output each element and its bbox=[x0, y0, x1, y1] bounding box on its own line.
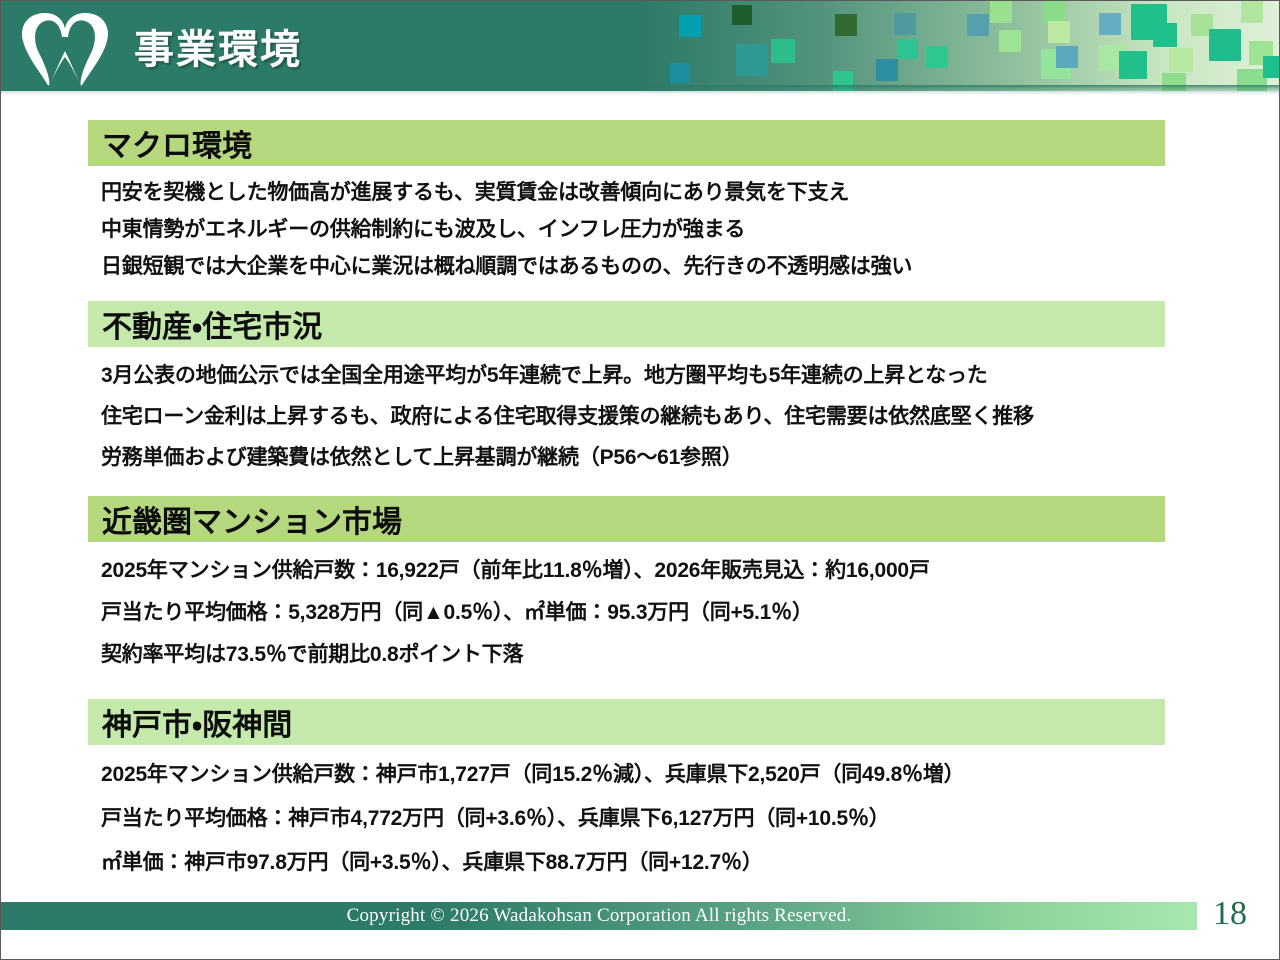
header-tile bbox=[1119, 51, 1147, 79]
copyright-text: Copyright © 2026 Wadakohsan Corporation … bbox=[1, 902, 1197, 930]
header-tile bbox=[736, 44, 768, 76]
header-tile bbox=[1056, 46, 1078, 68]
body-line: 日銀短観では大企業を中心に業況は概ね順調ではあるものの、先行きの不透明感は強い bbox=[88, 248, 1165, 285]
body-line: 3月公表の地価公示では全国全用途平均が5年連続で上昇。地方圏平均も5年連続の上昇… bbox=[88, 355, 1165, 396]
section-title: 近畿圏マンション市場 bbox=[102, 497, 402, 541]
body-line: 戸当たり平均価格：5,328万円（同▲0.5％）、㎡単価：95.3万円（同+5.… bbox=[88, 592, 1165, 634]
section-body: 3月公表の地価公示では全国全用途平均が5年連続で上昇。地方圏平均も5年連続の上昇… bbox=[88, 347, 1165, 478]
body-line: 住宅ローン金利は上昇するも、政府による住宅取得支援策の継続もあり、住宅需要は依然… bbox=[88, 396, 1165, 437]
header-tile bbox=[1043, 1, 1065, 23]
section-title: 神戸市・阪神間 bbox=[102, 700, 292, 744]
header-tile bbox=[926, 46, 948, 68]
header-tile bbox=[1099, 13, 1121, 35]
section-header-bar: 不動産・住宅市況 bbox=[88, 301, 1165, 347]
section-header-bar: マクロ環境 bbox=[88, 120, 1165, 166]
header-tile bbox=[1169, 48, 1193, 72]
header-tile bbox=[999, 30, 1021, 52]
header-tile bbox=[894, 13, 916, 35]
header-tile bbox=[679, 15, 701, 37]
slide: 事業環境 マクロ環境 円安を契機とした物価高が進展するも、実質賃金は改善傾向にあ… bbox=[0, 0, 1280, 960]
section-kobe-hanshin: 神戸市・阪神間 2025年マンション供給戸数：神戸市1,727戸（同15.2％減… bbox=[88, 699, 1165, 885]
section-title: マクロ環境 bbox=[102, 121, 252, 165]
header-tile bbox=[876, 59, 898, 81]
header-tile bbox=[771, 39, 795, 63]
section-macro: マクロ環境 円安を契機とした物価高が進展するも、実質賃金は改善傾向にあり景気を下… bbox=[88, 120, 1165, 285]
page-title: 事業環境 bbox=[134, 17, 302, 75]
header-tile bbox=[1241, 1, 1263, 23]
header-tile bbox=[1048, 21, 1070, 43]
section-header-bar: 神戸市・阪神間 bbox=[88, 699, 1165, 745]
page-number: 18 bbox=[1213, 895, 1247, 933]
slide-header: 事業環境 bbox=[1, 1, 1280, 91]
header-tile bbox=[1209, 29, 1241, 61]
section-body: 2025年マンション供給戸数：神戸市1,727戸（同15.2％減）、兵庫県下2,… bbox=[88, 745, 1165, 885]
section-body: 円安を契機とした物価高が進展するも、実質賃金は改善傾向にあり景気を下支え 中東情… bbox=[88, 166, 1165, 285]
body-line: 契約率平均は73.5％で前期比0.8ポイント下落 bbox=[88, 634, 1165, 676]
body-line: 戸当たり平均価格：神戸市4,772万円（同+3.6％）、兵庫県下6,127万円（… bbox=[88, 797, 1165, 841]
header-tile bbox=[898, 39, 918, 59]
body-line: ㎡単価：神戸市97.8万円（同+3.5％）、兵庫県下88.7万円（同+12.7％… bbox=[88, 841, 1165, 885]
body-line: 労務単価および建築費は依然として上昇基調が継続（P56〜61参照） bbox=[88, 437, 1165, 478]
header-tile bbox=[835, 14, 857, 36]
section-kinki-condo-market: 近畿圏マンション市場 2025年マンション供給戸数：16,922戸（前年比11.… bbox=[88, 496, 1165, 676]
header-tile bbox=[1263, 56, 1280, 78]
header-tile bbox=[967, 14, 989, 36]
section-realestate-housing: 不動産・住宅市況 3月公表の地価公示では全国全用途平均が5年連続で上昇。地方圏平… bbox=[88, 301, 1165, 478]
body-line: 中東情勢がエネルギーの供給制約にも波及し、インフレ圧力が強まる bbox=[88, 211, 1165, 248]
section-header-bar: 近畿圏マンション市場 bbox=[88, 496, 1165, 542]
header-tile bbox=[732, 5, 752, 25]
body-line: 2025年マンション供給戸数：16,922戸（前年比11.8％増）、2026年販… bbox=[88, 550, 1165, 592]
section-title: 不動産・住宅市況 bbox=[102, 302, 322, 346]
body-line: 2025年マンション供給戸数：神戸市1,727戸（同15.2％減）、兵庫県下2,… bbox=[88, 753, 1165, 797]
header-shadow bbox=[1, 85, 1280, 95]
header-tile bbox=[990, 1, 1012, 23]
section-body: 2025年マンション供給戸数：16,922戸（前年比11.8％増）、2026年販… bbox=[88, 542, 1165, 676]
body-line: 円安を契機とした物価高が進展するも、実質賃金は改善傾向にあり景気を下支え bbox=[88, 174, 1165, 211]
header-tile bbox=[670, 63, 690, 83]
header-tile bbox=[1153, 23, 1177, 47]
wadakohsan-logo-icon bbox=[15, 7, 111, 91]
